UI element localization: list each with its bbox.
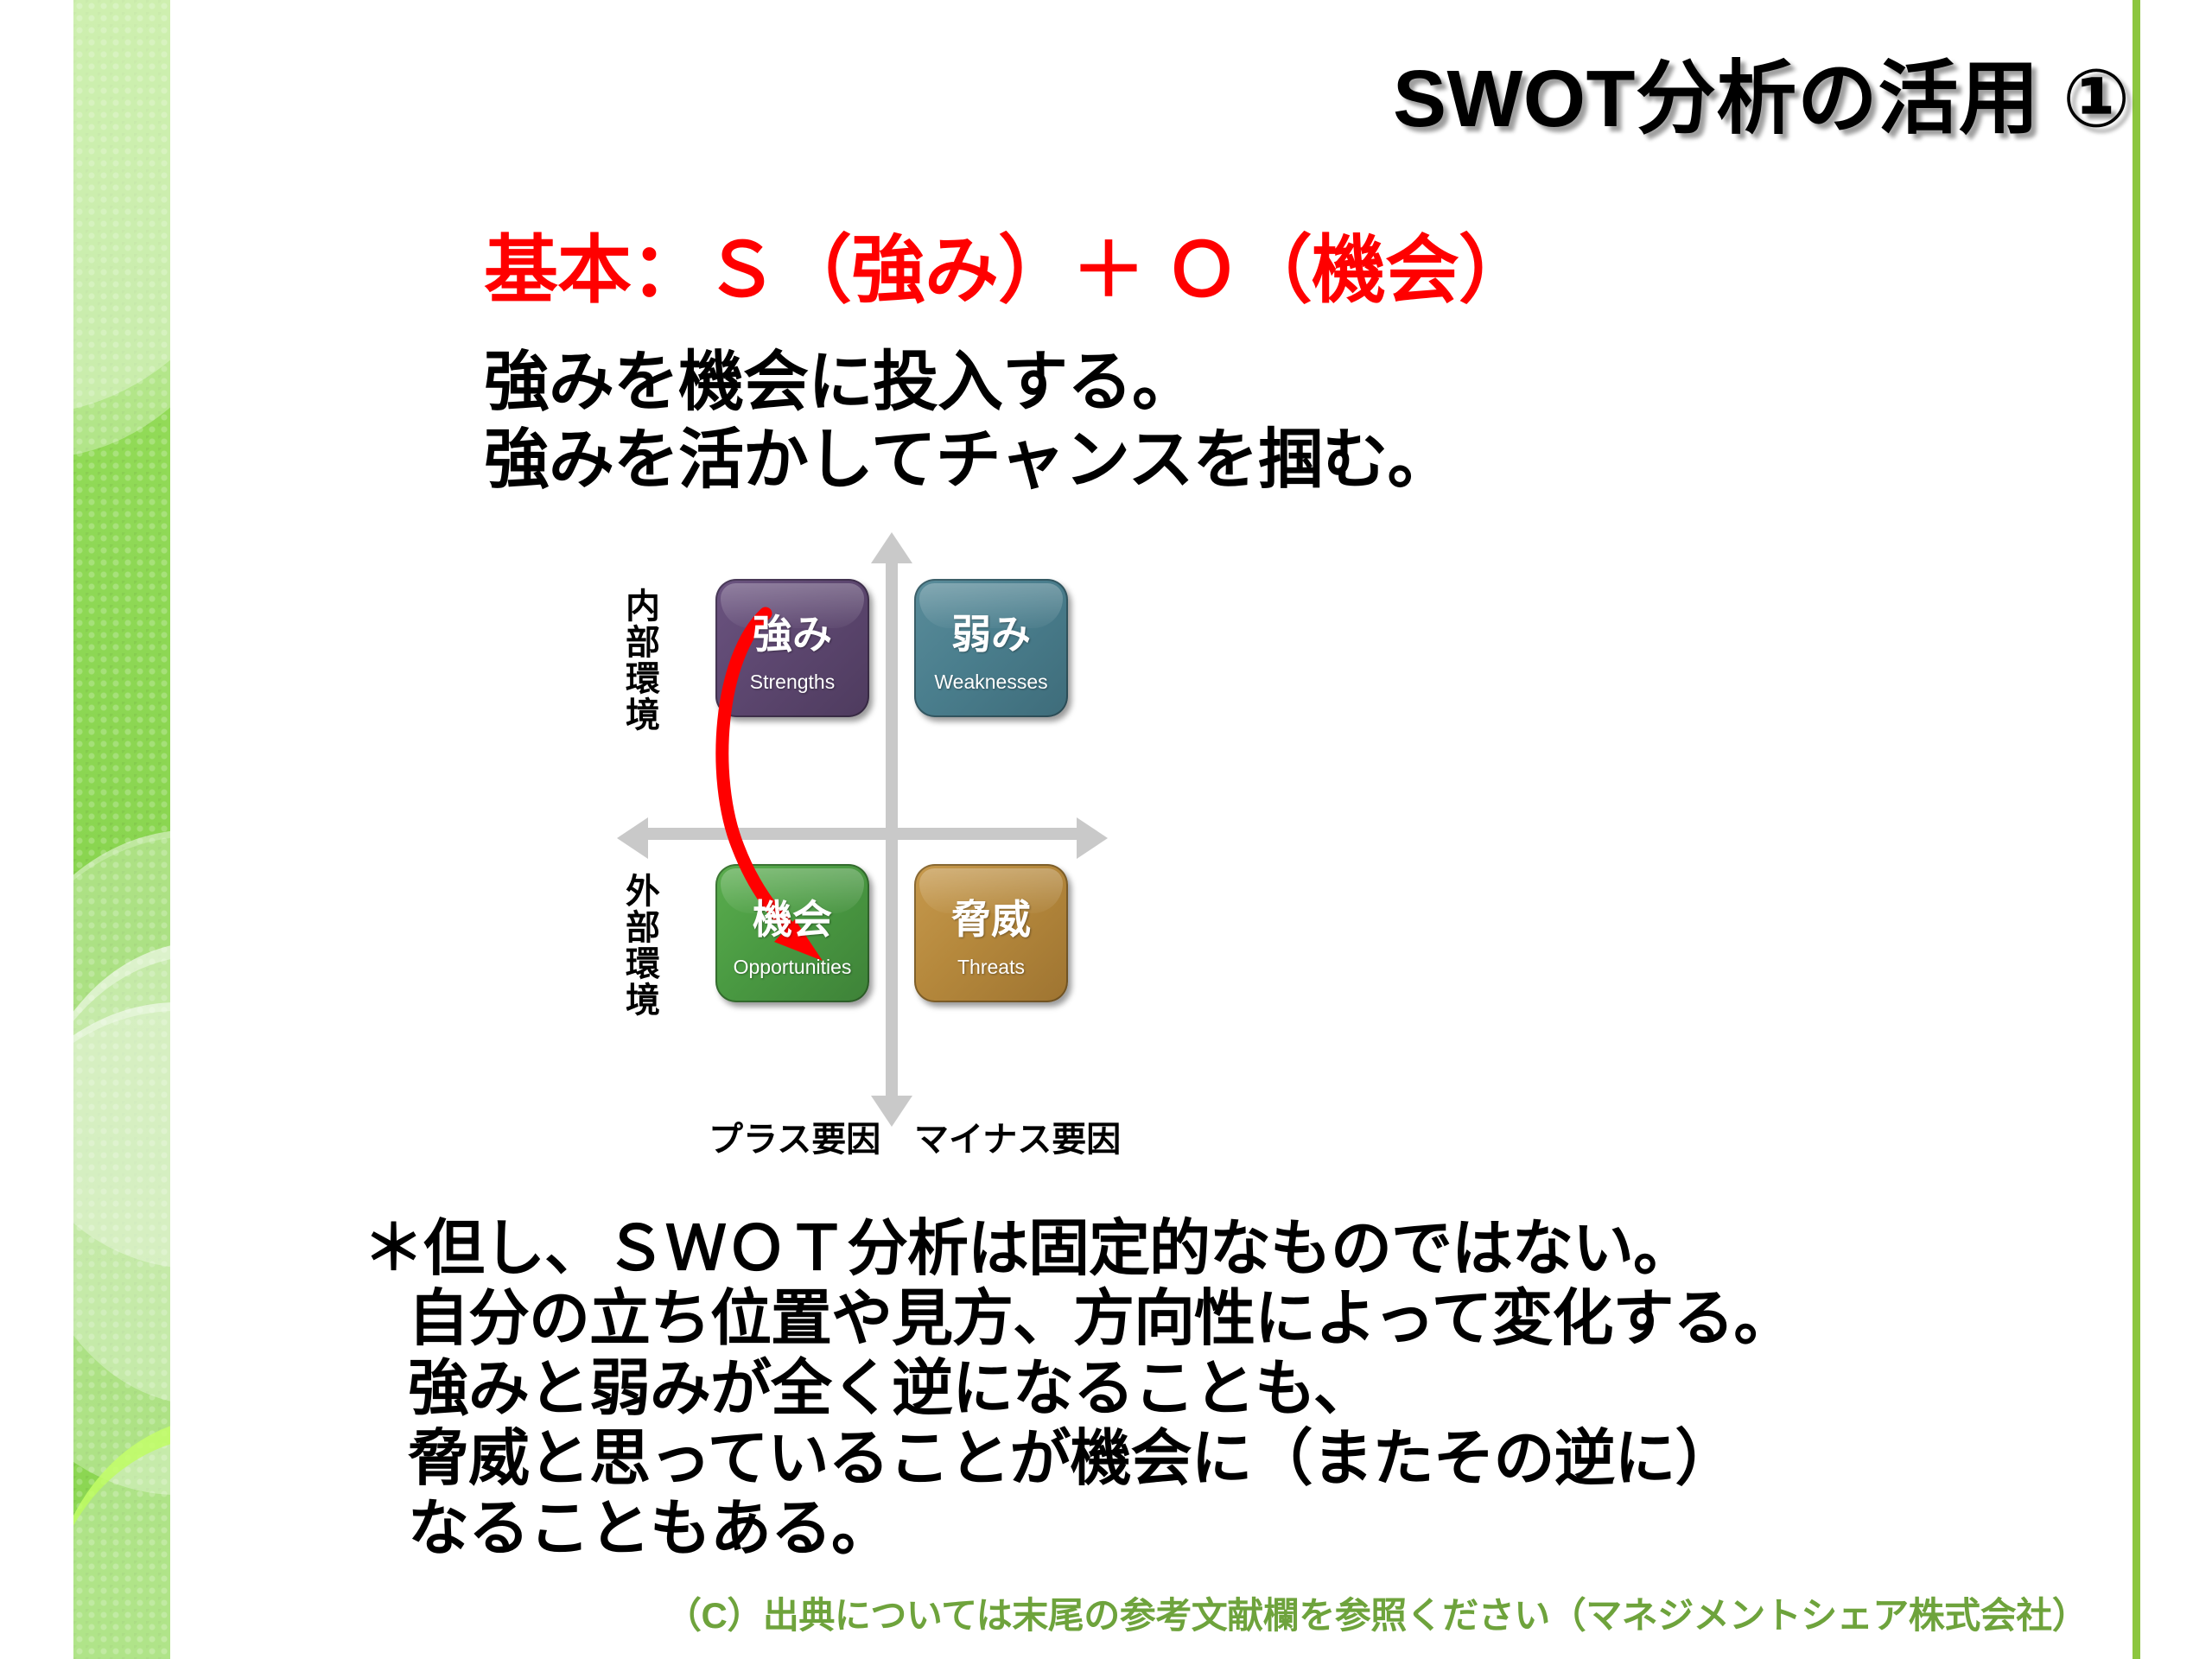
page-title: SWOT分析の活用 ① xyxy=(1393,33,2131,149)
axis-label-external-environment: 外部環境 xyxy=(622,873,657,1018)
slide-canvas: SWOT分析の活用 ① 基本：Ｓ（強み）＋ Ｏ（機会） 強みを機会に投入する。 … xyxy=(0,0,2212,1659)
quadrant-label-en: Weaknesses xyxy=(934,671,1047,694)
source-footnote: （C）出典については末尾の参考文献欄を参照ください（マネジメントシェア株式会社） xyxy=(665,1586,2088,1639)
band-curve-upper xyxy=(73,942,170,1405)
red-formula-heading: 基本：Ｓ（強み）＋ Ｏ（機会） xyxy=(484,209,1532,317)
right-edge-rule xyxy=(2133,0,2140,1659)
band-arc-top-light xyxy=(73,0,170,458)
swot-quadrant-strengths[interactable]: 強み Strengths xyxy=(715,579,869,717)
swot-matrix-diagram: 内部環境 外部環境 プラス要因 マイナス要因 強み Strengths 弱み W… xyxy=(674,562,1331,1184)
axis-arrowhead-up-icon xyxy=(871,532,912,563)
quadrant-label-en: Threats xyxy=(957,956,1025,979)
body-lower-line-1: ＊但し、ＳＷＯＴ分析は固定的なものではない。 xyxy=(363,1215,1794,1285)
band-curve-middle xyxy=(73,1002,170,1495)
body-lower-line-4: 脅威と思っていることが機会に（またその逆に） xyxy=(363,1425,1794,1495)
axis-label-plus-factor: プラス要因 xyxy=(709,1111,880,1161)
axis-label-minus-factor: マイナス要因 xyxy=(914,1111,1121,1161)
body-text-upper: 強みを機会に投入する。 強みを活かしてチャンスを掴む。 xyxy=(484,344,1452,499)
band-curve-lower xyxy=(73,1417,170,1659)
body-text-lower: ＊但し、ＳＷＯＴ分析は固定的なものではない。 自分の立ち位置や見方、方向性によっ… xyxy=(363,1215,1794,1565)
swot-quadrant-weaknesses[interactable]: 弱み Weaknesses xyxy=(914,579,1068,717)
band-curve-faint xyxy=(73,829,170,1268)
quadrant-label-jp: 脅威 xyxy=(951,888,1031,945)
axis-arrowhead-left-icon xyxy=(617,817,648,859)
quadrant-label-jp: 強み xyxy=(753,603,832,660)
body-upper-line-2: 強みを活かしてチャンスを掴む。 xyxy=(484,422,1452,499)
quadrant-label-en: Strengths xyxy=(750,671,835,694)
body-upper-line-1: 強みを機会に投入する。 xyxy=(484,344,1452,422)
quadrant-label-jp: 弱み xyxy=(951,603,1031,660)
body-lower-line-5: なることもある。 xyxy=(363,1495,1794,1565)
left-decorative-band xyxy=(73,0,170,1659)
body-lower-line-2: 自分の立ち位置や見方、方向性によって変化する。 xyxy=(363,1285,1794,1355)
swot-quadrant-threats[interactable]: 脅威 Threats xyxy=(914,864,1068,1002)
axis-arrowhead-right-icon xyxy=(1077,817,1108,859)
band-arc-top-highlight xyxy=(73,0,170,415)
swot-quadrant-opportunities[interactable]: 機会 Opportunities xyxy=(715,864,869,1002)
body-lower-line-3: 強みと弱みが全く逆になることも、 xyxy=(363,1355,1794,1425)
quadrant-label-jp: 機会 xyxy=(753,888,832,945)
quadrant-label-en: Opportunities xyxy=(734,956,852,979)
horizontal-axis-line xyxy=(646,828,1078,840)
axis-label-internal-environment: 内部環境 xyxy=(622,588,657,733)
